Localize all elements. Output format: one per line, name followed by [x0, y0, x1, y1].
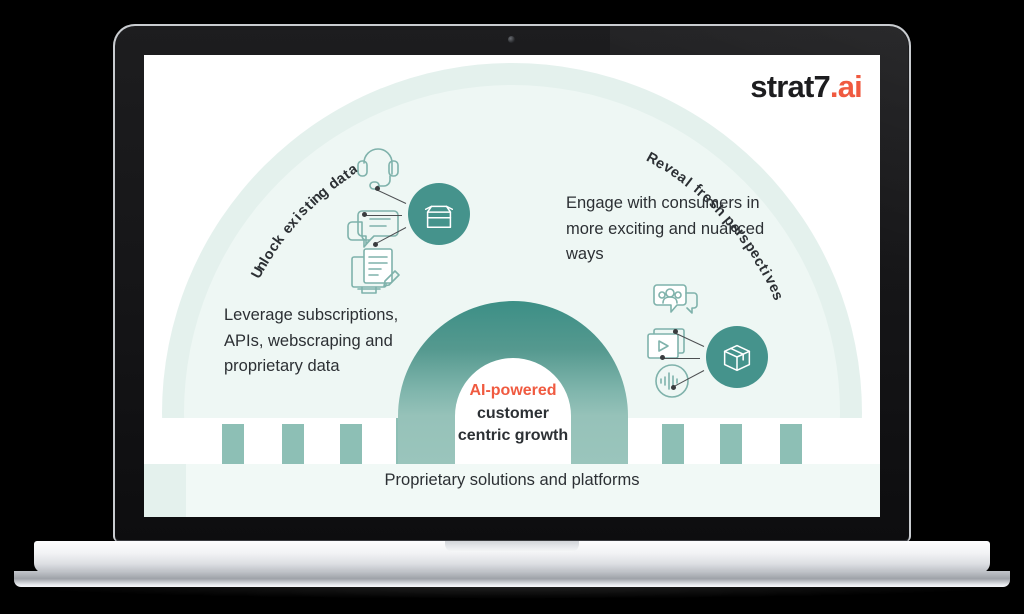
- center-label-line2: customer: [413, 403, 613, 426]
- text-engage-with-consumers: Engage with consumers in more exciting a…: [566, 191, 786, 268]
- platform-bar: [340, 424, 362, 464]
- right-connector-dot-3: [671, 385, 676, 390]
- left-connector-dot-2: [362, 212, 367, 217]
- platform-bar: [720, 424, 742, 464]
- closed-box-glyph: [718, 338, 756, 376]
- platform-bar: [780, 424, 802, 464]
- center-label: AI-powered customer centric growth: [413, 380, 613, 448]
- community-bubble-icon: [654, 285, 697, 313]
- brand-suffix: .ai: [830, 69, 862, 104]
- laptop-shadow: [0, 585, 1024, 599]
- left-connector-dot-3: [373, 242, 378, 247]
- platform-bar: [662, 424, 684, 464]
- bottom-caption: Proprietary solutions and platforms: [144, 471, 880, 490]
- center-label-line3: centric growth: [413, 425, 613, 448]
- open-box-glyph: [420, 195, 458, 233]
- brand-name: strat7: [750, 69, 830, 104]
- laptop-base-notch: [445, 541, 579, 552]
- webcam-icon: [508, 36, 515, 43]
- platform-bar: [222, 424, 244, 464]
- slide-canvas: strat7.ai Unlock existing data Reveal fr…: [144, 55, 880, 517]
- left-connector-dot-1: [375, 186, 380, 191]
- survey-form-icon: [352, 249, 399, 293]
- laptop-mockup: strat7.ai Unlock existing data Reveal fr…: [0, 0, 1024, 614]
- right-connector-dot-2: [660, 355, 665, 360]
- text-leverage-subscriptions: Leverage subscriptions, APIs, webscrapin…: [224, 303, 439, 380]
- right-connector-dot-1: [673, 329, 678, 334]
- right-connector-2: [662, 358, 700, 359]
- left-connector-2: [364, 215, 402, 216]
- laptop-screen: strat7.ai Unlock existing data Reveal fr…: [144, 55, 880, 517]
- headset-icon: [358, 149, 398, 189]
- center-label-highlight: AI-powered: [413, 380, 613, 403]
- platform-bar: [282, 424, 304, 464]
- brand-logo: strat7.ai: [750, 69, 862, 105]
- open-box-hub-icon: [408, 183, 470, 245]
- closed-box-hub-icon: [706, 326, 768, 388]
